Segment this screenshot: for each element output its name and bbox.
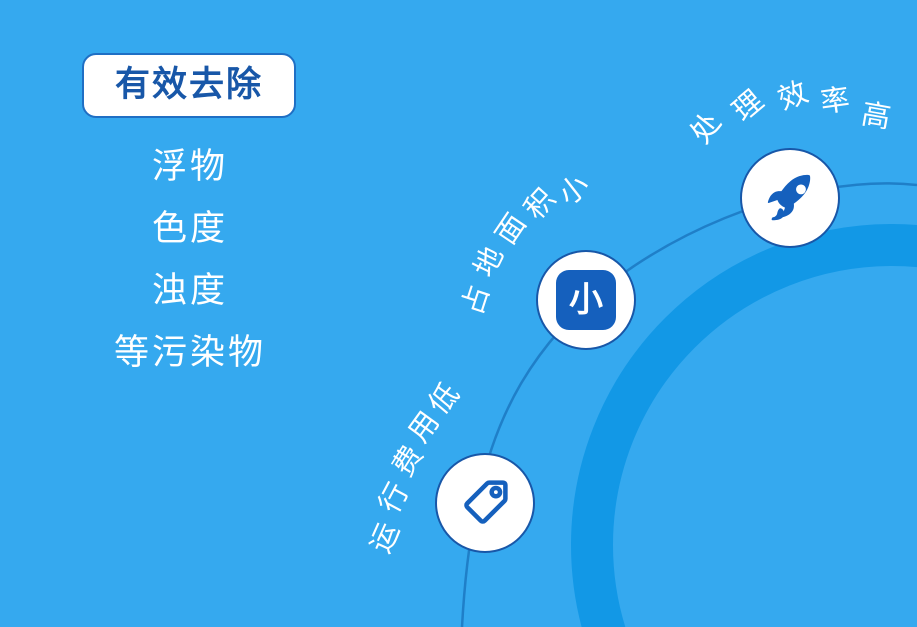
headline-badge: 有效去除: [82, 53, 296, 118]
list-item: 浊度: [40, 260, 340, 322]
feature-label-char: 率: [819, 85, 852, 118]
headline-badge-label: 有效去除: [115, 68, 263, 103]
list-item: 浮物: [40, 136, 340, 198]
feature-node-footprint[interactable]: 小: [536, 250, 636, 350]
rocket-icon: [762, 170, 818, 226]
decorative-ring: [592, 245, 917, 627]
list-item: 等污染物: [40, 322, 340, 384]
feature-node-operating-cost[interactable]: [435, 453, 535, 553]
infographic-canvas: 有效去除 浮物 色度 浊度 等污染物 处理效率高 小 占地面积小 运行费用低: [0, 0, 917, 627]
small-square-badge: 小: [556, 270, 616, 330]
pollutant-list: 浮物 色度 浊度 等污染物: [40, 136, 340, 384]
feature-node-efficiency[interactable]: [740, 148, 840, 248]
feature-label-char: 高: [859, 99, 893, 133]
price-tag-icon: [456, 474, 514, 532]
list-item: 色度: [40, 198, 340, 260]
